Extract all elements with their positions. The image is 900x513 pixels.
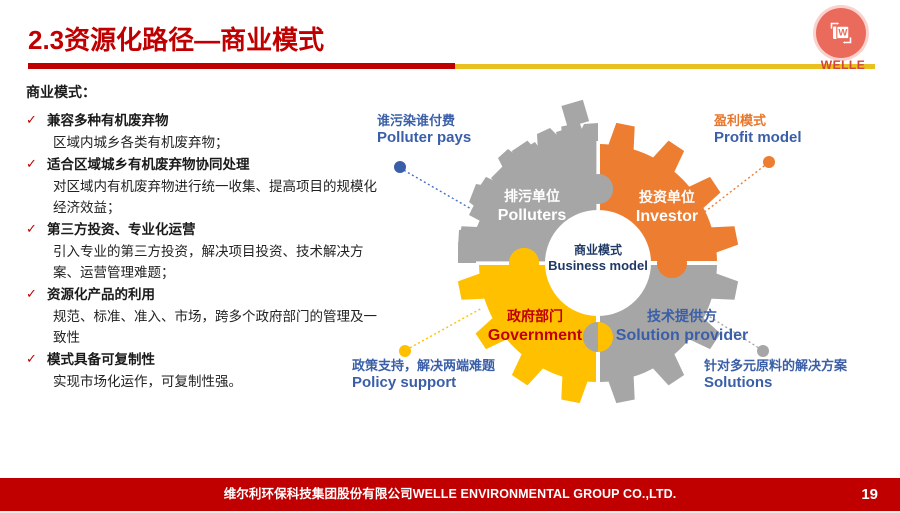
check-icon: ✓ — [26, 220, 39, 238]
title-rule-red — [28, 63, 455, 69]
callout-profit-model-cn: 盈利模式 — [714, 112, 802, 129]
recycle-w-icon: W — [827, 19, 855, 47]
segment-label-solution-en: Solution provider — [616, 327, 748, 344]
connector-line-polluter-pays — [400, 168, 480, 214]
slide-canvas: 2.3资源化路径—商业模式 W WELLE 商业模式： ✓ 兼容多种有机废弃物 … — [0, 0, 900, 513]
segment-label-government-en: Government — [488, 327, 583, 344]
check-icon: ✓ — [26, 155, 39, 173]
segment-label-investor-cn: 投资单位 — [639, 189, 695, 205]
segment-label-government-cn: 政府部门 — [507, 308, 563, 324]
connector-dot-policy-support — [399, 345, 411, 357]
gear-center-label-cn: 商业模式 — [574, 242, 622, 257]
footer-company-name: 维尔利环保科技集团股份有限公司WELLE ENVIRONMENTAL GROUP… — [0, 478, 900, 511]
callout-policy-support: 政策支持，解决两端难题 Policy support — [352, 357, 495, 391]
page-title: 2.3资源化路径—商业模式 — [28, 20, 324, 57]
segment-label-polluters-en: Polluters — [498, 207, 567, 224]
svg-text:W: W — [838, 27, 847, 38]
callout-profit-model: 盈利模式 Profit model — [714, 112, 802, 146]
callout-solutions: 针对多元原料的解决方案 Solutions — [704, 357, 847, 391]
list-item-title: 适合区域城乡有机废弃物协同处理 — [47, 155, 250, 174]
connector-line-policy-support — [406, 308, 482, 350]
check-icon: ✓ — [26, 111, 39, 129]
welle-logo: W WELLE — [812, 8, 874, 70]
business-model-gear-diagram: 商业模式 Business model 排污单位 Polluters 投资单位 … — [330, 96, 900, 426]
list-item-title: 兼容多种有机废弃物 — [47, 111, 169, 130]
callout-polluter-pays-cn: 谁污染谁付费 — [377, 112, 471, 129]
page-number: 19 — [861, 478, 878, 511]
check-icon: ✓ — [26, 285, 39, 303]
callout-solutions-cn: 针对多元原料的解决方案 — [704, 357, 847, 374]
check-icon: ✓ — [26, 350, 39, 368]
gear-center-label-en: Business model — [548, 258, 648, 273]
list-item-title: 资源化产品的利用 — [47, 285, 155, 304]
segment-label-investor-en: Investor — [636, 208, 698, 225]
segment-label-solution-cn: 技术提供方 — [647, 308, 717, 324]
footer-bar: 维尔利环保科技集团股份有限公司WELLE ENVIRONMENTAL GROUP… — [0, 478, 900, 511]
callout-profit-model-en: Profit model — [714, 129, 802, 146]
connector-dot-profit-model — [763, 156, 775, 168]
connector-dot-solutions — [757, 345, 769, 357]
callout-polluter-pays: 谁污染谁付费 Polluter pays — [377, 112, 471, 146]
list-item-title: 模式具备可复制性 — [47, 350, 155, 369]
callout-polluter-pays-en: Polluter pays — [377, 129, 471, 146]
list-item-title: 第三方投资、专业化运营 — [47, 220, 196, 239]
segment-label-polluters-cn: 排污单位 — [504, 188, 560, 204]
callout-policy-support-cn: 政策支持，解决两端难题 — [352, 357, 495, 374]
connector-dot-polluter-pays — [394, 161, 406, 173]
logo-wordmark: WELLE — [812, 58, 874, 72]
callout-solutions-en: Solutions — [704, 374, 847, 391]
callout-policy-support-en: Policy support — [352, 374, 495, 391]
